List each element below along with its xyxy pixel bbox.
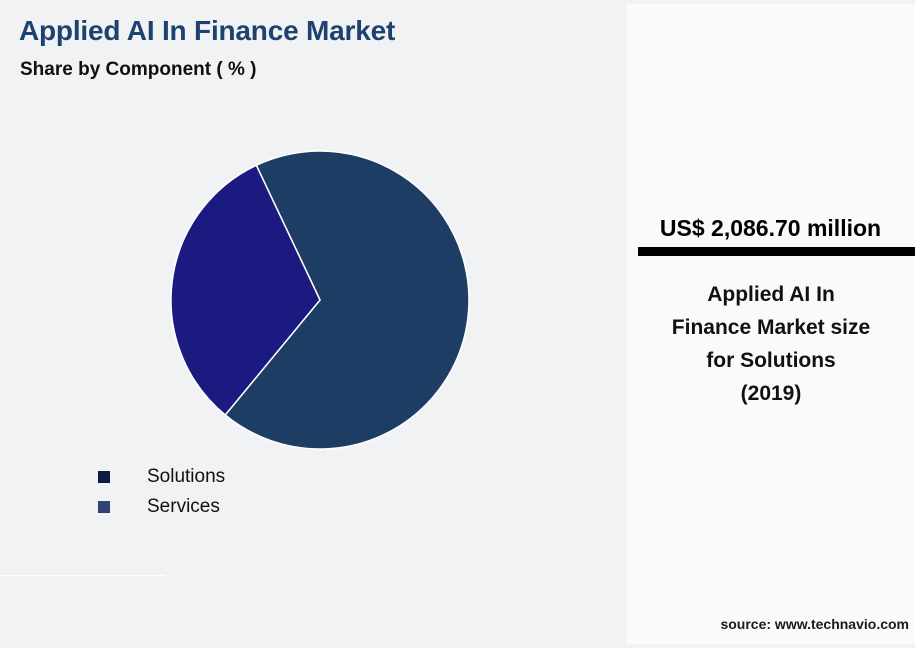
callout-description-line: Applied AI In	[636, 278, 906, 311]
callout-description: Applied AI InFinance Market sizefor Solu…	[636, 278, 906, 410]
callout-underline	[638, 247, 915, 256]
page-title: Applied AI In Finance Market	[19, 15, 395, 47]
callout-description-line: for Solutions	[636, 344, 906, 377]
legend-item-services[interactable]: Services	[98, 492, 428, 522]
chart-page: Applied AI In Finance Market Share by Co…	[0, 0, 915, 648]
pie-chart	[170, 150, 470, 450]
source-note: source: www.technavio.com	[626, 616, 909, 632]
chart-legend: Solutions Services	[98, 462, 428, 522]
legend-swatch-icon	[98, 501, 110, 513]
legend-swatch-icon	[98, 471, 110, 483]
divider	[0, 575, 165, 576]
callout-panel: US$ 2,086.70 million Applied AI InFinanc…	[626, 4, 915, 644]
pie-chart-svg	[170, 150, 470, 450]
legend-item-label: Services	[147, 496, 220, 518]
chart-subtitle: Share by Component ( % )	[20, 59, 256, 81]
callout-description-line: Finance Market size	[636, 311, 906, 344]
callout-value: US$ 2,086.70 million	[626, 215, 915, 242]
chart-panel: Applied AI In Finance Market Share by Co…	[0, 0, 626, 648]
legend-item-label: Solutions	[147, 466, 225, 488]
callout-description-line: (2019)	[636, 377, 906, 410]
legend-item-solutions[interactable]: Solutions	[98, 462, 428, 492]
